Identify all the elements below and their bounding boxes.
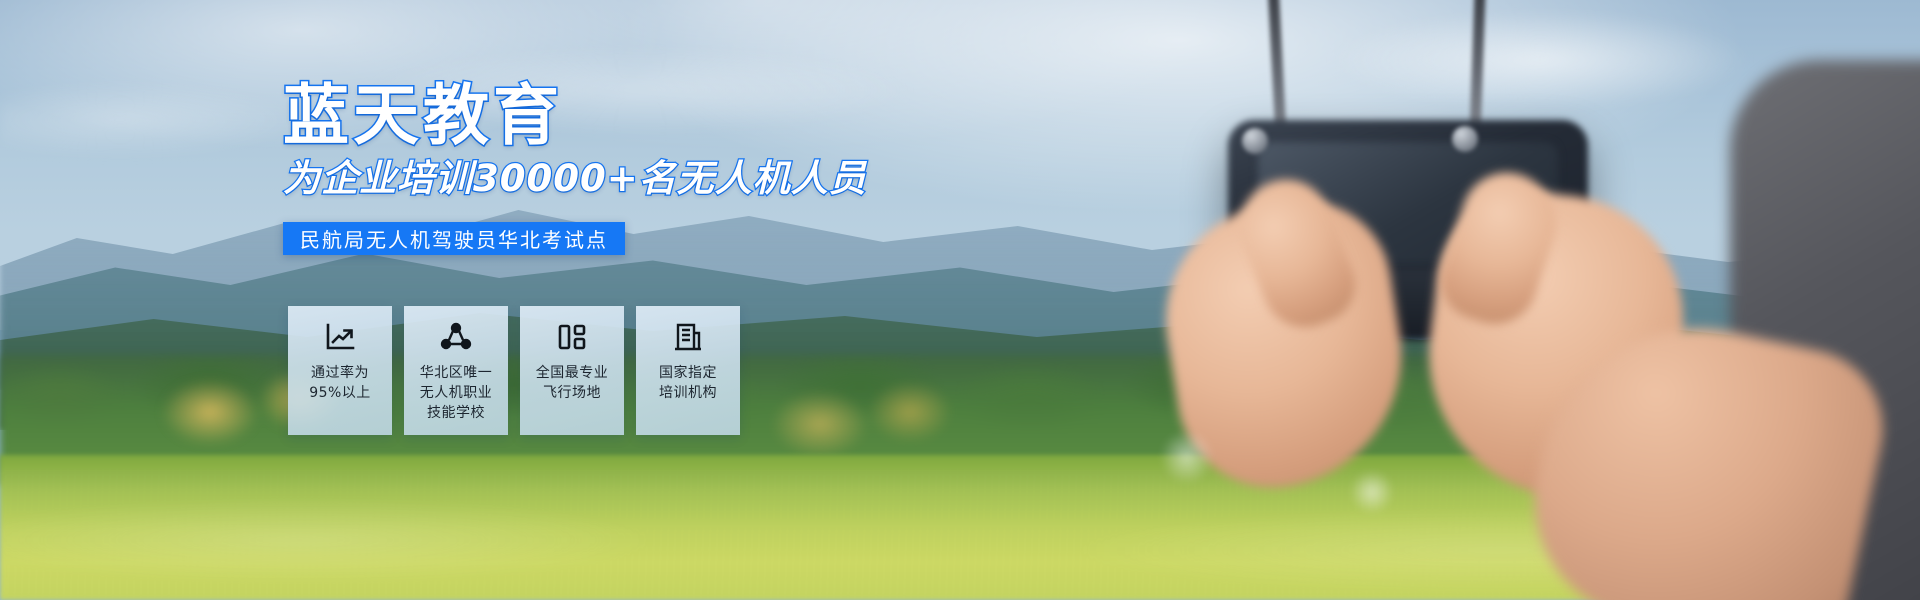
feature-card-flight-field[interactable]: 全国最专业 飞行场地 [520, 306, 624, 435]
card-line: 培训机构 [659, 383, 717, 403]
status-badge: 民航局无人机驾驶员华北考试点 [283, 222, 625, 255]
card-line: 通过率为 [309, 363, 371, 383]
card-line: 飞行场地 [536, 383, 609, 403]
feature-card-national-institution[interactable]: 国家指定 培训机构 [636, 306, 740, 435]
feature-card-text: 全国最专业 飞行场地 [536, 363, 609, 403]
feature-card-list: 通过率为 95%以上 华北区唯一 无人机职业 技能学校 [288, 306, 740, 435]
page-title: 蓝天教育 [283, 83, 563, 149]
subtitle: 为企业培训30000+名无人机人员 [283, 160, 867, 197]
layout-panels-icon [555, 320, 589, 354]
card-line: 华北区唯一 [420, 363, 493, 383]
feature-card-vocational-school[interactable]: 华北区唯一 无人机职业 技能学校 [404, 306, 508, 435]
card-line: 技能学校 [420, 403, 493, 423]
chart-growth-icon [323, 320, 357, 354]
feature-card-text: 华北区唯一 无人机职业 技能学校 [420, 363, 493, 423]
banner-content: 蓝天教育 为企业培训30000+名无人机人员 民航局无人机驾驶员华北考试点 通过… [0, 0, 1920, 600]
feature-card-pass-rate[interactable]: 通过率为 95%以上 [288, 306, 392, 435]
feature-card-text: 国家指定 培训机构 [659, 363, 717, 403]
card-line: 全国最专业 [536, 363, 609, 383]
card-line: 国家指定 [659, 363, 717, 383]
building-icon [671, 320, 705, 354]
feature-card-text: 通过率为 95%以上 [309, 363, 371, 403]
badge-label: 民航局无人机驾驶员华北考试点 [300, 224, 608, 253]
card-line: 95%以上 [309, 383, 371, 403]
card-line: 无人机职业 [420, 383, 493, 403]
network-nodes-icon [439, 320, 473, 354]
hero-banner: 蓝天教育 为企业培训30000+名无人机人员 民航局无人机驾驶员华北考试点 通过… [0, 0, 1920, 600]
